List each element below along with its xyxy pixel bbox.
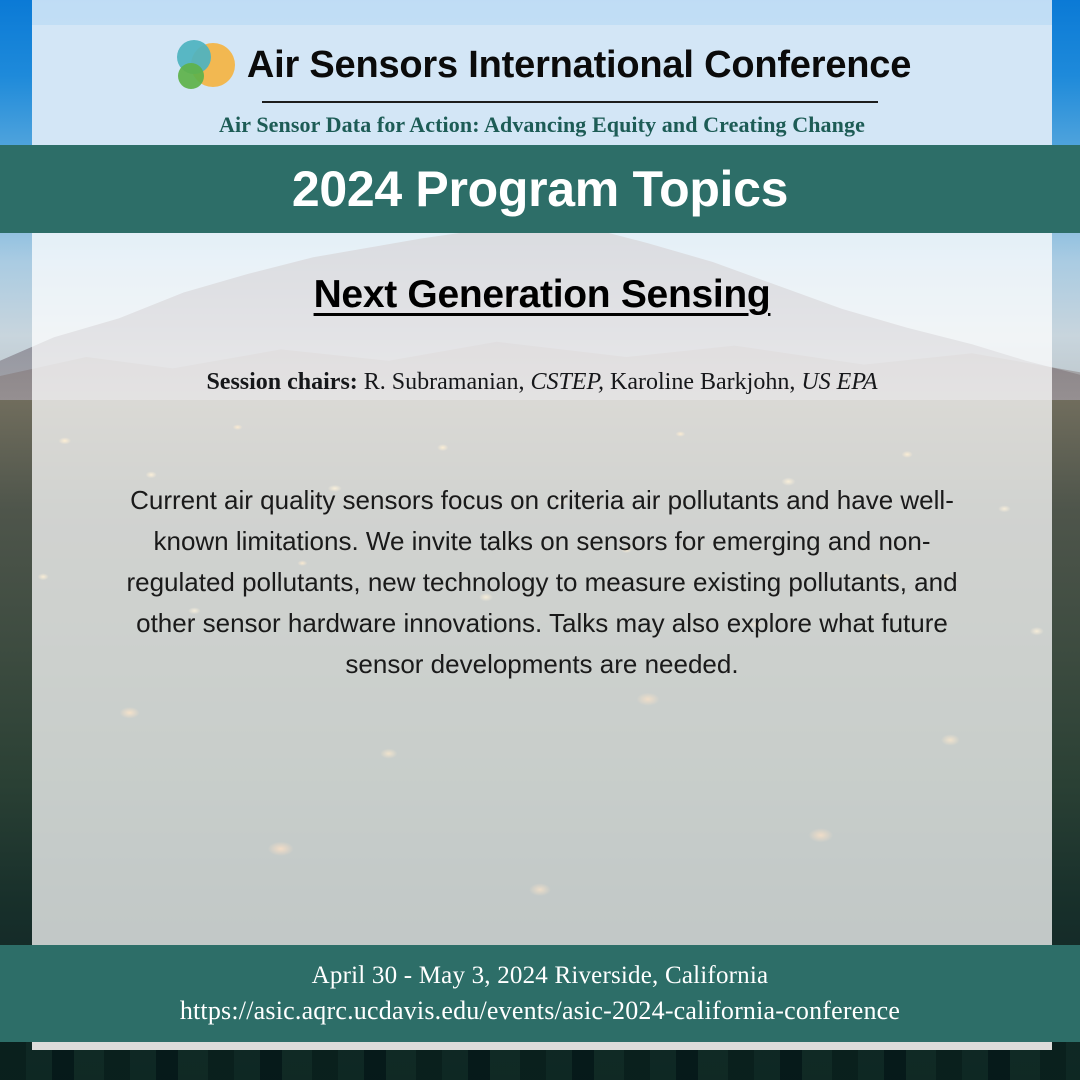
- conference-header: Air Sensors International Conference Air…: [32, 25, 1052, 145]
- bottom-divider-strip: [32, 1042, 1052, 1050]
- session-content: Next Generation Sensing Session chairs: …: [32, 233, 1052, 945]
- footer-dates-location: April 30 - May 3, 2024 Riverside, Califo…: [312, 962, 769, 990]
- session-chairs-label: Session chairs:: [206, 369, 357, 395]
- conference-tagline: Air Sensor Data for Action: Advancing Eq…: [219, 112, 865, 138]
- program-topics-title: 2024 Program Topics: [292, 160, 788, 218]
- program-topics-band: 2024 Program Topics: [0, 145, 1080, 233]
- asic-logo-icon: [173, 35, 237, 97]
- session-chairs: Session chairs: R. Subramanian, CSTEP, K…: [206, 369, 877, 396]
- session-description: Current air quality sensors focus on cri…: [112, 480, 972, 685]
- brand-title: Air Sensors International Conference: [247, 44, 911, 87]
- chair-affiliation-1: CSTEP,: [530, 369, 604, 395]
- session-title: Next Generation Sensing: [314, 273, 771, 317]
- conference-poster: Air Sensors International Conference Air…: [0, 0, 1080, 1080]
- footer-url[interactable]: https://asic.aqrc.ucdavis.edu/events/asi…: [180, 996, 900, 1026]
- header-divider: [262, 101, 878, 103]
- conference-footer: April 30 - May 3, 2024 Riverside, Califo…: [0, 945, 1080, 1042]
- chair-name-1: R. Subramanian,: [358, 369, 531, 395]
- chair-affiliation-2: US EPA: [801, 369, 877, 395]
- chair-name-2: Karoline Barkjohn,: [604, 369, 801, 395]
- brand-row: Air Sensors International Conference: [173, 35, 911, 97]
